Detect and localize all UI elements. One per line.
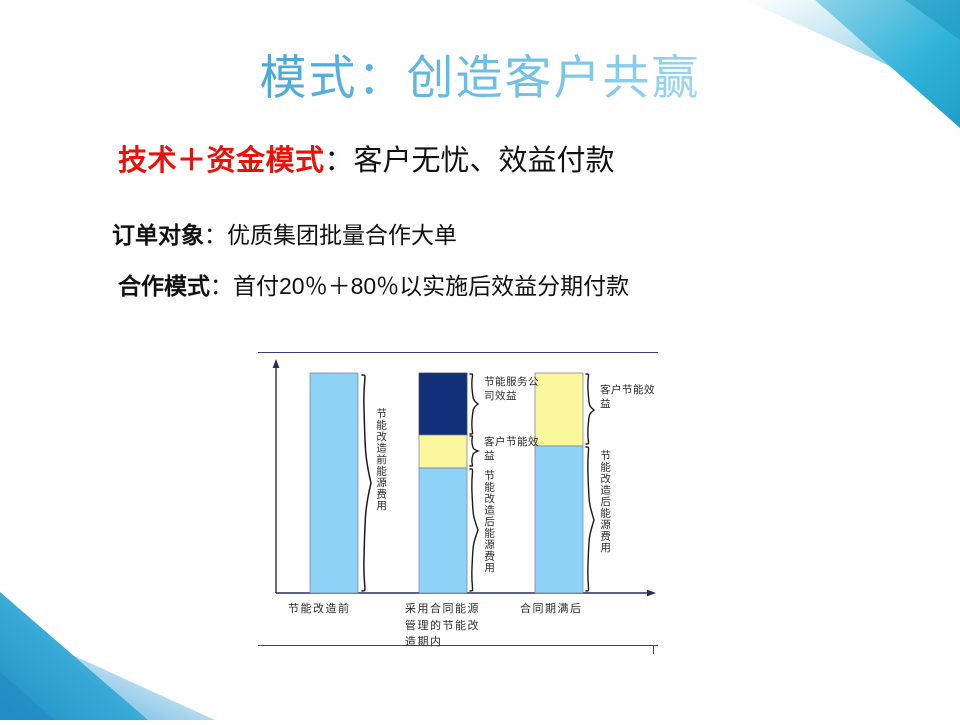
detail-value: ：首付20％＋80％以实施后效益分期付款 [210, 273, 629, 299]
annotation-bar-3-energy-cost: 节能改造后能源费用 [598, 450, 610, 554]
page-title: 模式：创造客户共赢 [0, 52, 960, 106]
annotation-bar-3-customer-benefit: 客户节能效益 [600, 384, 658, 411]
y-axis-arrow [273, 359, 280, 368]
corner-triangle-bottom-left-pale [0, 622, 215, 720]
x-axis-label-1: 节能改造前 [288, 601, 388, 618]
detail-row-order-target: 订单对象：优质集团批量合作大单 [112, 222, 457, 250]
corner-triangle-bottom-left-deep [0, 672, 55, 720]
annotation-bar-1-energy-cost: 节能改造前能源费用 [374, 408, 386, 512]
x-axis-label-2: 采用合同能源管理的节能改造期内 [405, 601, 487, 651]
brace-bar-3-customer [586, 374, 594, 444]
brace-bar-2-energy [470, 469, 478, 591]
detail-label: 合作模式 [118, 273, 210, 299]
brace-bar-3-energy [586, 447, 594, 591]
brace-bar-1 [362, 375, 371, 591]
corner-triangle-top-right-deep [905, 0, 960, 40]
brace-bar-2-customer [470, 436, 478, 466]
brace-bar-2-esco [470, 374, 478, 434]
annotation-bar-2-customer-benefit: 客户节能效益 [484, 436, 542, 463]
highlight-value: ：客户无忧、效益付款 [325, 145, 615, 177]
bar-3-customer-benefit [535, 373, 583, 446]
detail-row-cooperation-mode: 合作模式：首付20％＋80％以实施后效益分期付款 [118, 273, 629, 301]
highlight-label: 技术＋资金模式 [118, 145, 325, 177]
annotation-bar-2-energy-cost: 节能改造后能源费用 [482, 470, 494, 574]
highlight-line: 技术＋资金模式：客户无忧、效益付款 [118, 144, 615, 179]
detail-value: ：优质集团批量合作大单 [204, 222, 457, 248]
annotation-bar-2-esco-benefit: 节能服务公司效益 [484, 376, 542, 403]
bar-2-esco-benefit [419, 373, 467, 435]
bar-2-customer-benefit [419, 435, 467, 468]
bar-1-energy-cost [310, 373, 358, 593]
detail-label: 订单对象 [112, 222, 204, 248]
x-axis-arrow [647, 590, 656, 597]
bar-3-energy-cost [535, 446, 583, 593]
bar-2-energy-cost [419, 468, 467, 593]
x-axis-label-3: 合同期满后 [520, 601, 610, 618]
emc-benefit-chart: 节能改造前能源费用 节能服务公司效益 客户节能效益 节能改造后能源费用 客户节能… [258, 348, 658, 658]
corner-triangle-bottom-left-blue [0, 592, 148, 720]
